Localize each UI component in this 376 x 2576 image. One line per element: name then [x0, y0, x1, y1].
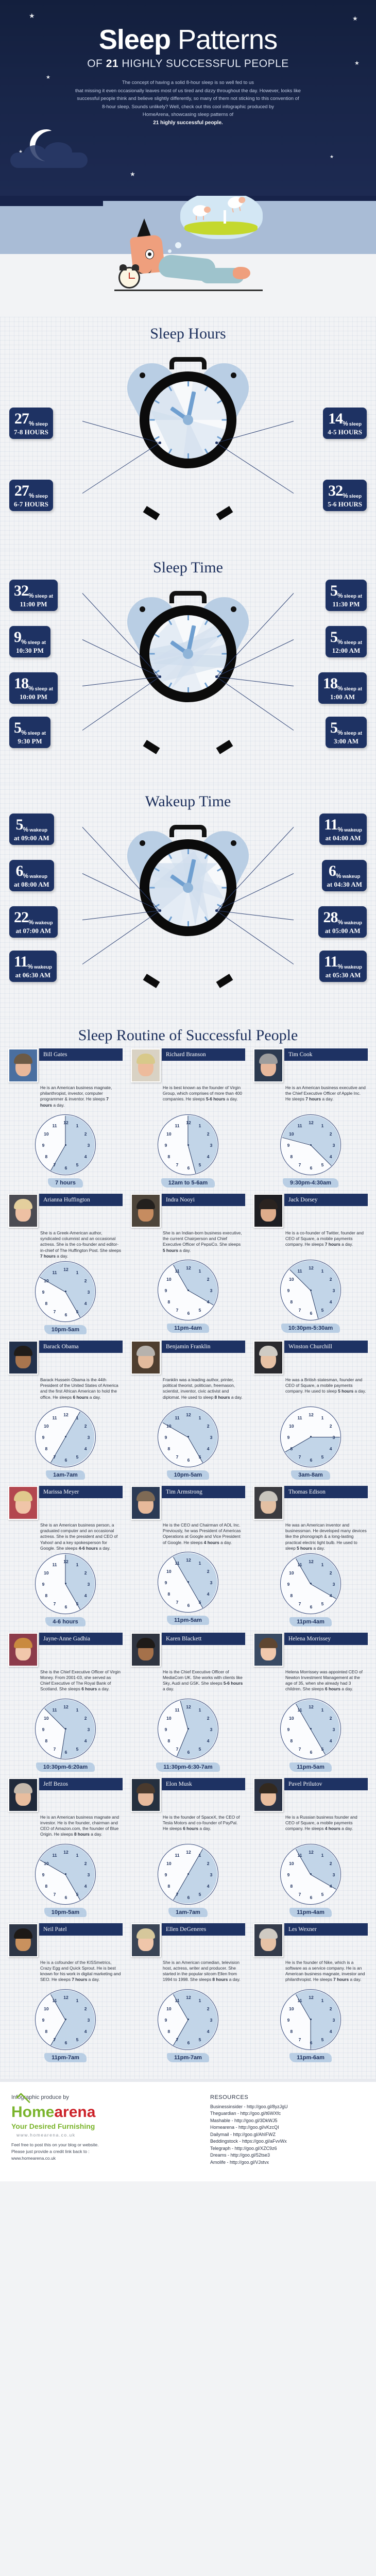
person-card[interactable]: Benjamin FranklinFranklin was a leading …	[131, 1341, 245, 1480]
clock-number: 11	[298, 1415, 302, 1420]
clock-number: 11	[53, 1123, 57, 1128]
star-icon: ★	[354, 61, 360, 66]
stat-badge[interactable]: 28%wakeupat 05:00 AM	[318, 906, 367, 938]
pie-container: 121234567891011	[131, 1989, 245, 2050]
sleep-pie-chart: 121234567891011	[35, 1261, 96, 1322]
stat-sublabel: 11:30 PM	[330, 601, 362, 607]
stat-sublabel: at 09:00 AM	[14, 835, 49, 841]
stat-percent: 5	[14, 720, 21, 736]
person-description: He is a co-founder of Twitter, founder a…	[253, 1228, 368, 1258]
clock-number: 8	[45, 1154, 48, 1159]
clock-number: 4	[84, 1593, 87, 1598]
avatar	[253, 1778, 283, 1812]
clock-number: 6	[65, 1312, 67, 1317]
footer-resources: RESOURCES Businessinsider - http://goo.g…	[210, 2094, 365, 2166]
clock-number: 6	[187, 1165, 190, 1171]
stat-badge[interactable]: 14%sleep4-5 HOURS	[323, 408, 367, 439]
clock-face	[149, 381, 227, 459]
person-card[interactable]: Tim ArmstrongHe is the CEO and Chairman …	[131, 1486, 245, 1626]
person-card[interactable]: Winston ChurchillHe was a British states…	[253, 1341, 368, 1480]
person-card[interactable]: Barack ObamaBarack Hussein Obama is the …	[8, 1341, 123, 1480]
avatar-hair	[14, 1054, 32, 1064]
stat-percent: 32	[328, 483, 343, 499]
person-card[interactable]: Arianna HuffingtonShe is a Greek-America…	[8, 1194, 123, 1334]
clock-number: 2	[330, 2006, 332, 2011]
clock-number: 7	[54, 1892, 56, 1897]
clock-number: 1	[321, 1123, 324, 1128]
infographic-page: ★ ★ ★ ★ ★ ★ ★ Sleep Patterns OF 21 HIGHL…	[0, 0, 376, 2181]
stat-badge[interactable]: 22%wakeupat 07:00 AM	[9, 906, 58, 938]
person-name: Arianna Huffington	[39, 1194, 123, 1206]
pie-center	[310, 1144, 312, 1146]
stat-badge[interactable]: 32%sleep at11:00 PM	[9, 580, 58, 611]
stat-row: 5%sleep at	[330, 583, 362, 599]
resource-item[interactable]: Beddingstock - https://goo.gl/aFvvWx	[210, 2138, 365, 2145]
person-card[interactable]: Tim CookHe is an American business execu…	[253, 1048, 368, 1188]
person-card-header: Neil Patel	[8, 1923, 123, 1957]
clock-number: 6	[65, 1750, 67, 1755]
clock-case	[140, 371, 236, 468]
bell-knob	[140, 840, 145, 846]
stat-row: 32%sleep	[328, 483, 362, 499]
footer-credit-link[interactable]: www.homearena.co.uk	[11, 2155, 181, 2162]
person-description: He is an American business magnate and i…	[8, 1812, 123, 1842]
person-name: Tim Armstrong	[162, 1486, 245, 1498]
person-sleep-time: 11pm-7am	[8, 2053, 123, 2062]
homearena-logo[interactable]: Homearena	[11, 2104, 181, 2121]
avatar	[8, 1633, 38, 1667]
clock-number: 3	[88, 1872, 90, 1877]
sleep-time-pill-text: 1am-7am	[46, 1470, 85, 1480]
stat-badge[interactable]: 5%wakeupat 09:00 AM	[9, 814, 54, 845]
sleep-time-pill-text: 3am-8am	[291, 1470, 330, 1480]
percent-symbol: %	[336, 873, 341, 879]
pie-center	[187, 1290, 189, 1291]
sleep-time-pill-text: 10:30pm-6:20am	[36, 1762, 95, 1772]
stat-badge[interactable]: 11%wakeupat 05:30 AM	[319, 951, 367, 982]
page-subtitle: OF 21 HIGHLY SUCCESSFUL PEOPLE	[0, 58, 376, 70]
clock-number: 9	[165, 1580, 167, 1585]
clock-tick	[204, 683, 208, 688]
percent-symbol: %	[337, 963, 343, 970]
person-description: He is an American business executive and…	[253, 1082, 368, 1112]
clock-number: 12	[309, 1120, 313, 1125]
footer-note: Feel free to post this on your blog or w…	[11, 2142, 181, 2162]
person-card[interactable]: Jayne-Anne GadhiaShe is the Chief Execut…	[8, 1633, 123, 1772]
clock-number: 9	[42, 1872, 45, 1877]
clock-number: 9	[287, 1727, 290, 1732]
person-card[interactable]: Jack DorseyHe is a co-founder of Twitter…	[253, 1194, 368, 1334]
bubble-dot	[168, 249, 172, 253]
resource-item[interactable]: Telegraph - http://goo.gl/XZC9z6	[210, 2145, 365, 2153]
clock-number: 12	[63, 1267, 68, 1272]
clock-number: 9	[165, 2018, 167, 2023]
stat-badge[interactable]: 11%wakeupat 04:00 AM	[319, 814, 367, 845]
stat-label: wakeup	[344, 828, 362, 833]
stat-percent: 5	[16, 817, 23, 833]
sleep-pie-chart: 121234567891011	[158, 1552, 218, 1613]
stat-badge[interactable]: 27%sleep7-8 HOURS	[9, 408, 53, 439]
person-sleep-hours: 4 hours	[204, 1540, 219, 1545]
clock-foot	[143, 740, 160, 754]
resource-item[interactable]: Dreams - http://goo.gl/52tse3	[210, 2152, 365, 2159]
clock-number: 1	[199, 1268, 201, 1274]
stat-label: wakeup	[29, 828, 47, 833]
sheep-leg	[232, 208, 234, 212]
person-sleep-hours: 5-6 hours	[224, 1681, 243, 1686]
stat-badge[interactable]: 6%wakeupat 08:00 AM	[9, 860, 54, 891]
stat-label: sleep at	[35, 594, 53, 599]
person-card[interactable]: Pavel PrilutovHe is a Russian business f…	[253, 1778, 368, 1917]
clock-number: 12	[309, 1412, 313, 1417]
clock-number: 9	[165, 1727, 167, 1732]
stat-percent: 9	[14, 630, 21, 645]
sleeper-illustration	[0, 196, 376, 317]
clock-number: 5	[321, 1308, 324, 1313]
intro-line: HomeArena, showcasing sleep patterns of	[28, 110, 348, 118]
person-card-header: Marissa Meyer	[8, 1486, 123, 1520]
bubble-dot	[175, 242, 181, 248]
pie-needle	[310, 2020, 311, 2049]
pie-needle	[187, 1116, 188, 1145]
person-description: He is the CEO and Chairman of AOL Inc. P…	[131, 1520, 245, 1550]
sleep-pie-chart: 121234567891011	[35, 1989, 96, 2050]
percent-symbol: %	[337, 919, 343, 925]
stat-label: sleep at	[344, 731, 362, 736]
resource-item[interactable]: Dailymail - http://goo.gl/AhIFWZ	[210, 2131, 365, 2139]
clock-number: 7	[54, 1601, 56, 1606]
person-sleep-hours: 7 hours	[333, 1977, 349, 1982]
pie-needle	[65, 1554, 65, 1584]
stat-badge[interactable]: 5%sleep at3:00 AM	[326, 717, 367, 748]
clock-number: 6	[310, 1604, 313, 1609]
clock-number: 4	[207, 1738, 210, 1743]
stat-label: sleep at	[28, 731, 46, 736]
clock-number: 11	[53, 1270, 57, 1275]
person-card[interactable]: Elon MuskHe is the founder of SpaceX, th…	[131, 1778, 245, 1917]
intro-line: 8-hour sleep. Sounds unlikely? Well, che…	[28, 103, 348, 111]
intro-line: The concept of having a solid 8-hour sle…	[28, 78, 348, 87]
people-row: Marissa MeyerShe is an American business…	[8, 1486, 368, 1626]
cloud-decoration	[242, 196, 376, 201]
person-description: He is a cofounder of the KISSmetrics, Cr…	[8, 1957, 123, 1987]
alarm-clock-graphic	[136, 360, 240, 515]
clock-number: 4	[84, 1738, 87, 1743]
avatar-hair	[259, 1491, 278, 1501]
clock-number: 2	[330, 1861, 332, 1866]
wakeup-time-section: Wakeup Time 5%wakeupat 09:00 AM11%wakeup…	[0, 785, 376, 1019]
clock-number: 10	[289, 1570, 294, 1575]
clock-number: 4	[84, 1446, 87, 1451]
person-card[interactable]: Neil PatelHe is a cofounder of the KISSm…	[8, 1923, 123, 2062]
person-name: Pavel Prilutov	[284, 1778, 368, 1790]
avatar	[8, 1048, 38, 1082]
stat-row: 11%wakeup	[324, 954, 362, 970]
sleep-time-pill-text: 11pm-5am	[289, 1762, 332, 1772]
avatar	[131, 1048, 161, 1082]
clock-number: 10	[166, 2006, 171, 2011]
clock-number: 10	[166, 1131, 171, 1137]
person-card[interactable]: Karen BlackettHe is the Chief Executive …	[131, 1633, 245, 1772]
stat-badge[interactable]: 11%wakeupat 06:30 AM	[9, 951, 57, 982]
stat-label: sleep	[349, 494, 362, 499]
clock-number: 10	[289, 1277, 294, 1282]
connector-dot	[159, 442, 161, 444]
sheep-leg	[203, 216, 204, 220]
resource-item[interactable]: Amolife - http://goo.gl/VJstvx	[210, 2159, 365, 2166]
clock-number: 8	[168, 1884, 170, 1889]
pie-container: 121234567891011	[8, 1114, 123, 1175]
stat-label: wakeup	[29, 874, 47, 879]
avatar	[8, 1486, 38, 1520]
clock-number: 12	[309, 1995, 313, 2000]
stat-badge[interactable]: 32%sleep5-6 HOURS	[323, 480, 367, 511]
clock-number: 1	[321, 1998, 324, 2003]
clock-number: 1	[76, 1562, 79, 1567]
alarm-clock-graphic	[136, 594, 240, 749]
person-card[interactable]: Bill GatesHe is an American business mag…	[8, 1048, 123, 1188]
person-description: Franklin was a leading author, printer, …	[131, 1375, 245, 1404]
person-card[interactable]: Helena MorrisseyHelena Morrissey was app…	[253, 1633, 368, 1772]
person-sleep-time: 4-6 hours	[8, 1617, 123, 1626]
resource-item[interactable]: Mashable - http://goo.gl/3DkWJ5	[210, 2117, 365, 2125]
avatar-hair	[136, 1638, 155, 1648]
clock-number: 9	[165, 1288, 167, 1293]
intro-paragraph: The concept of having a solid 8-hour sle…	[28, 78, 348, 127]
logo-url[interactable]: www.homearena.co.uk	[16, 2132, 181, 2138]
sleep-time-pill-text: 1am-7am	[168, 1908, 208, 1917]
person-card-header: Benjamin Franklin	[131, 1341, 245, 1375]
clock-number: 6	[187, 2040, 190, 2045]
stat-percent: 27	[14, 483, 29, 499]
clock-number: 10	[289, 1716, 294, 1721]
clock-number: 12	[186, 1412, 191, 1417]
person-card-header: Karen Blackett	[131, 1633, 245, 1667]
clock-tick	[149, 419, 155, 421]
avatar-hair	[136, 1199, 155, 1209]
clock-number: 9	[42, 1290, 45, 1295]
clock-number: 10	[289, 1423, 294, 1429]
clock-number: 6	[310, 1311, 313, 1316]
person-sleep-hours: 4-6 hours	[79, 1546, 98, 1551]
pie-container: 121234567891011	[253, 1553, 368, 1614]
clock-number: 2	[207, 1277, 210, 1282]
sleep-pie-chart: 121234567891011	[280, 1406, 341, 1467]
stat-badge[interactable]: 5%sleep at12:00 AM	[326, 626, 367, 657]
clock-number: 3	[210, 2018, 213, 2023]
stat-badge[interactable]: 5%sleep at9:30 PM	[9, 717, 50, 748]
cloud-decoration	[10, 152, 88, 168]
clock-number: 3	[210, 1727, 213, 1732]
connector-dot	[215, 675, 218, 678]
sheep-head	[238, 196, 246, 204]
clock-number: 5	[321, 2037, 324, 2042]
clock-number: 9	[287, 2018, 290, 2023]
sleep-pie-chart: 121234567891011	[158, 1699, 218, 1759]
person-card[interactable]: Marissa MeyerShe is an American business…	[8, 1486, 123, 1626]
clock-number: 4	[330, 1299, 332, 1304]
clock-number: 9	[287, 1872, 290, 1877]
clock-tick	[149, 653, 155, 655]
pie-container: 121234567891011	[131, 1552, 245, 1613]
sleep-pie-chart: 121234567891011	[158, 1989, 218, 2050]
avatar-hair	[259, 1783, 278, 1793]
person-description: She is an Indian-born business executive…	[131, 1228, 245, 1258]
clock-number: 4	[207, 1446, 210, 1451]
clock-number: 6	[310, 1458, 313, 1463]
clock-number: 10	[44, 1423, 48, 1429]
clock-number: 6	[65, 1165, 67, 1171]
person-sleep-time: 10pm-5am	[8, 1908, 123, 1917]
sleep-pie-chart: 121234567891011	[158, 1114, 218, 1175]
stat-badge[interactable]: 18%sleep at10:00 PM	[9, 672, 58, 704]
stat-badge[interactable]: 9%sleep at10:30 PM	[9, 626, 50, 657]
percent-symbol: %	[337, 826, 343, 833]
pie-center	[65, 1144, 66, 1146]
pie-container: 121234567891011	[253, 1114, 368, 1175]
clock-number: 7	[176, 1454, 179, 1460]
person-card-header: Arianna Huffington	[8, 1194, 123, 1228]
person-sleep-time: 3am-8am	[253, 1470, 368, 1480]
pie-container: 121234567891011	[131, 1699, 245, 1759]
stat-label: wakeup	[34, 965, 52, 970]
avatar	[131, 1633, 161, 1667]
person-card-header: Jayne-Anne Gadhia	[8, 1633, 123, 1667]
clock-number: 3	[88, 1582, 90, 1587]
avatar-hair	[136, 1491, 155, 1501]
avatar	[8, 1341, 38, 1375]
clock-number: 5	[199, 1162, 201, 1167]
percent-symbol: %	[21, 730, 27, 736]
clock-number: 8	[290, 1593, 293, 1598]
clock-number: 9	[42, 1143, 45, 1148]
people-row: Barack ObamaBarack Hussein Obama is the …	[8, 1341, 368, 1480]
stat-row: 5%sleep at	[14, 720, 46, 736]
clock-foot	[143, 974, 160, 988]
intro-bold-line: 21 highly successful people.	[153, 120, 223, 126]
clock-number: 4	[207, 1884, 210, 1889]
clock-number: 4	[84, 1154, 87, 1159]
clock-number: 2	[84, 2006, 87, 2011]
clock-tick	[187, 615, 189, 620]
stat-sublabel: at 06:30 AM	[14, 972, 52, 978]
person-sleep-time: 10pm-5am	[8, 1325, 123, 1334]
resource-item[interactable]: Homearena - http://goo.gl/vKzcQI	[210, 2124, 365, 2131]
clock-number: 7	[299, 1892, 301, 1897]
clock-tick	[217, 868, 222, 872]
stat-badge[interactable]: 5%sleep at11:30 PM	[326, 580, 367, 611]
connector-dot	[159, 675, 161, 678]
person-card[interactable]: Indra NooyiShe is an Indian-born busines…	[131, 1194, 245, 1334]
clock-number: 11	[175, 1707, 180, 1713]
person-description: Barack Hussein Obama is the 44th Preside…	[8, 1375, 123, 1404]
clock-number: 5	[321, 1454, 324, 1460]
pie-container: 121234567891011	[8, 1261, 123, 1322]
stat-badge[interactable]: 27%sleep6-7 HOURS	[9, 480, 53, 511]
sleep-time-pill-text: 11pm-4am	[289, 1617, 332, 1626]
clock-number: 1	[321, 1707, 324, 1713]
person-sleep-time: 9:30pm-4:30am	[253, 1178, 368, 1188]
clock-number: 8	[290, 1154, 293, 1159]
stat-sublabel: 9:30 PM	[14, 738, 46, 744]
hero-header: ★ ★ ★ ★ ★ ★ ★ Sleep Patterns OF 21 HIGHL…	[0, 0, 376, 196]
clock-number: 11	[53, 1707, 57, 1713]
clock-number: 2	[207, 2006, 210, 2011]
footer-note-line: Please just provide a credit link back t…	[11, 2148, 181, 2155]
stat-row: 11%wakeup	[324, 817, 362, 833]
stat-label: sleep	[36, 422, 48, 427]
stat-sublabel: 1:00 AM	[323, 693, 362, 700]
person-sleep-hours: 7 hours	[40, 1096, 109, 1107]
percent-symbol: %	[27, 963, 33, 970]
person-card[interactable]: Thomas EdisonHe was an American inventor…	[253, 1486, 368, 1626]
stat-percent: 22	[14, 910, 28, 925]
stat-label: sleep at	[344, 687, 362, 692]
sleep-time-pill-text: 12am to 5-6am	[161, 1178, 215, 1188]
sleep-pie-chart: 121234567891011	[280, 1260, 341, 1320]
resource-item[interactable]: Theguardian - http://goo.gl/t6WXfc	[210, 2110, 365, 2117]
clock-number: 11	[53, 1853, 57, 1858]
clock-number: 6	[187, 1458, 190, 1463]
sleep-time-pill-text: 10pm-5am	[44, 1325, 87, 1334]
clock-number: 6	[65, 2040, 67, 2045]
pie-container: 121234567891011	[131, 1260, 245, 1320]
clock-number: 11	[298, 1123, 302, 1128]
clock-number: 9	[287, 1435, 290, 1440]
stat-percent: 11	[324, 817, 337, 833]
resources-title: RESOURCES	[210, 2094, 365, 2100]
clock-number: 10	[166, 1861, 171, 1866]
sleep-time-pill-text: 11pm-4am	[167, 1324, 209, 1333]
subtitle-count: 21	[106, 58, 118, 70]
clock-tick	[187, 849, 189, 854]
clock-number: 3	[333, 1727, 335, 1732]
bell-knob	[231, 840, 236, 846]
sleep-pie-chart: 121234567891011	[35, 1114, 96, 1175]
person-card[interactable]: Jeff BezosHe is an American business mag…	[8, 1778, 123, 1917]
resource-item[interactable]: Businessinsider - http://goo.gl/8yzJgU	[210, 2104, 365, 2111]
person-card-header: Jack Dorsey	[253, 1194, 368, 1228]
star-icon: ★	[330, 155, 334, 159]
sleep-pie-chart: 121234567891011	[158, 1844, 218, 1905]
pie-container: 121234567891011	[131, 1114, 245, 1175]
clock-tick	[221, 887, 227, 889]
floor-line	[114, 290, 263, 291]
clock-case	[140, 605, 236, 702]
stat-label: sleep at	[28, 640, 46, 646]
clock-number: 3	[333, 1288, 335, 1293]
person-card[interactable]: Richard BransonHe is best known as the f…	[131, 1048, 245, 1188]
clock-number: 1	[76, 1707, 79, 1713]
person-card[interactable]: Les WexnerHe is the founder of Nike, whi…	[253, 1923, 368, 2062]
clock-number: 12	[309, 1559, 313, 1564]
sleep-pie-chart: 121234567891011	[158, 1406, 218, 1467]
clock-number: 8	[45, 1593, 48, 1598]
stat-sublabel: at 05:30 AM	[324, 972, 362, 978]
person-card[interactable]: Ellen DeGeneresShe is an American comedi…	[131, 1923, 245, 2062]
clock-number: 9	[42, 1435, 45, 1440]
clock-number: 2	[84, 1423, 87, 1429]
person-sleep-hours: 6 hours	[183, 1826, 198, 1831]
person-name: Karen Blackett	[162, 1633, 245, 1645]
stat-badge[interactable]: 6%wakeupat 04:30 AM	[322, 860, 367, 891]
clock-number: 6	[65, 1458, 67, 1463]
avatar-hair	[136, 1783, 155, 1793]
clock-number: 7	[176, 1600, 179, 1605]
clock-number: 3	[88, 1435, 90, 1440]
stat-percent: 11	[324, 954, 337, 970]
stat-badge[interactable]: 18%sleep at1:00 AM	[318, 672, 367, 704]
